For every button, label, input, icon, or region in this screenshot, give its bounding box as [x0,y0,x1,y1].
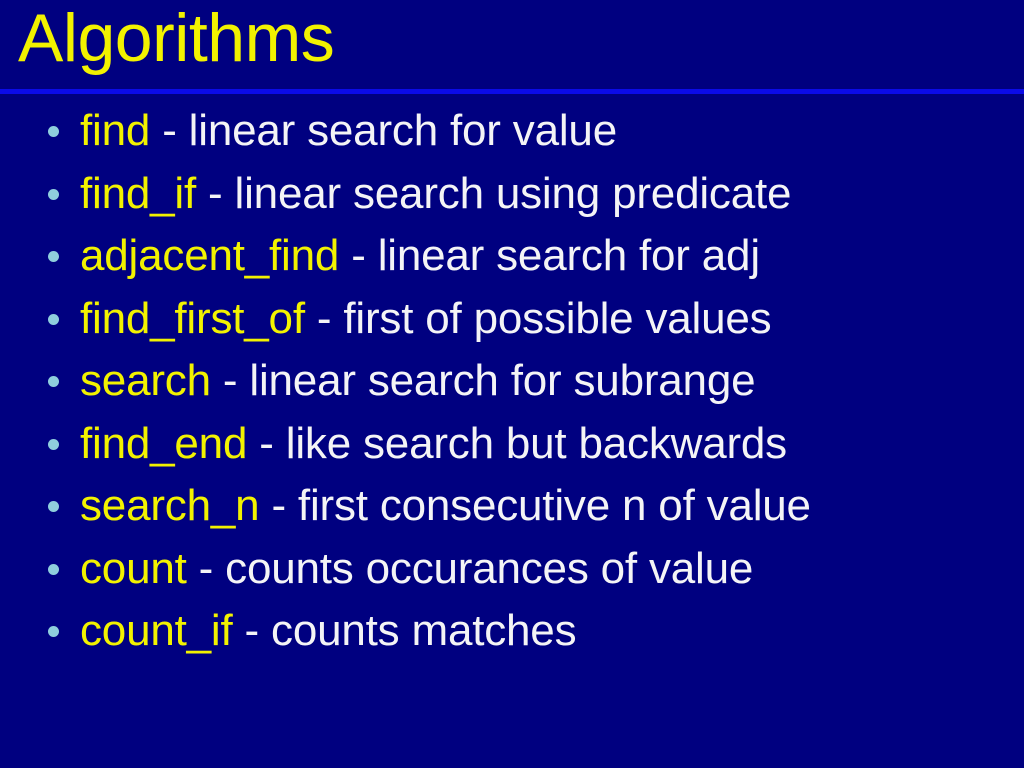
list-item-text: find_first_of - first of possible values [80,296,771,342]
algorithm-description: linear search for adj [378,231,760,280]
algorithm-name: search_n [80,481,259,530]
list-item-text: count_if - counts matches [80,608,576,654]
bullet-dot-icon [48,376,59,387]
bullet-dot-icon [48,626,59,637]
name-description-separator: - [317,294,331,343]
name-description-separator: - [271,481,285,530]
name-description-separator: - [351,231,365,280]
name-description-separator: - [223,356,237,405]
list-item-text: count - counts occurances of value [80,546,753,592]
list-item: find_if - linear search using predicate [0,163,1024,226]
list-item: search - linear search for subrange [0,350,1024,413]
algorithm-description: linear search for value [189,106,617,155]
list-item-text: adjacent_find - linear search for adj [80,233,760,279]
algorithm-name: find [80,106,150,155]
name-description-separator: - [162,106,176,155]
bullet-dot-icon [48,501,59,512]
list-item-text: find_if - linear search using predicate [80,171,791,217]
algorithm-description: linear search for subrange [249,356,755,405]
algorithm-name: adjacent_find [80,231,339,280]
list-item: find_end - like search but backwards [0,413,1024,476]
algorithm-name: find_if [80,169,196,218]
title-divider-rule [0,89,1024,94]
algorithm-description: first of possible values [343,294,771,343]
algorithm-description: first consecutive n of value [298,481,811,530]
algorithm-description: counts matches [271,606,576,655]
list-item: adjacent_find - linear search for adj [0,225,1024,288]
algorithm-description: counts occurances of value [225,544,753,593]
name-description-separator: - [259,419,273,468]
bullet-dot-icon [48,251,59,262]
name-description-separator: - [208,169,222,218]
list-item: search_n - first consecutive n of value [0,475,1024,538]
list-item: count_if - counts matches [0,600,1024,663]
algorithm-name: find_end [80,419,247,468]
algorithm-name: count [80,544,187,593]
list-item: find_first_of - first of possible values [0,288,1024,351]
list-item: count - counts occurances of value [0,538,1024,601]
bullet-dot-icon [48,126,59,137]
list-item-text: find_end - like search but backwards [80,421,787,467]
algorithm-bullet-list: find - linear search for valuefind_if - … [0,100,1024,663]
name-description-separator: - [245,606,259,655]
list-item-text: search_n - first consecutive n of value [80,483,811,529]
bullet-dot-icon [48,314,59,325]
name-description-separator: - [199,544,213,593]
list-item: find - linear search for value [0,100,1024,163]
title-block: Algorithms [0,0,1024,88]
algorithm-name: search [80,356,211,405]
algorithm-name: count_if [80,606,233,655]
algorithm-description: linear search using predicate [235,169,792,218]
bullet-dot-icon [48,564,59,575]
page-title: Algorithms [18,0,334,82]
algorithm-name: find_first_of [80,294,305,343]
list-item-text: find - linear search for value [80,108,617,154]
bullet-dot-icon [48,189,59,200]
bullet-dot-icon [48,439,59,450]
algorithm-description: like search but backwards [286,419,787,468]
list-item-text: search - linear search for subrange [80,358,755,404]
slide-canvas: Algorithms find - linear search for valu… [0,0,1024,768]
